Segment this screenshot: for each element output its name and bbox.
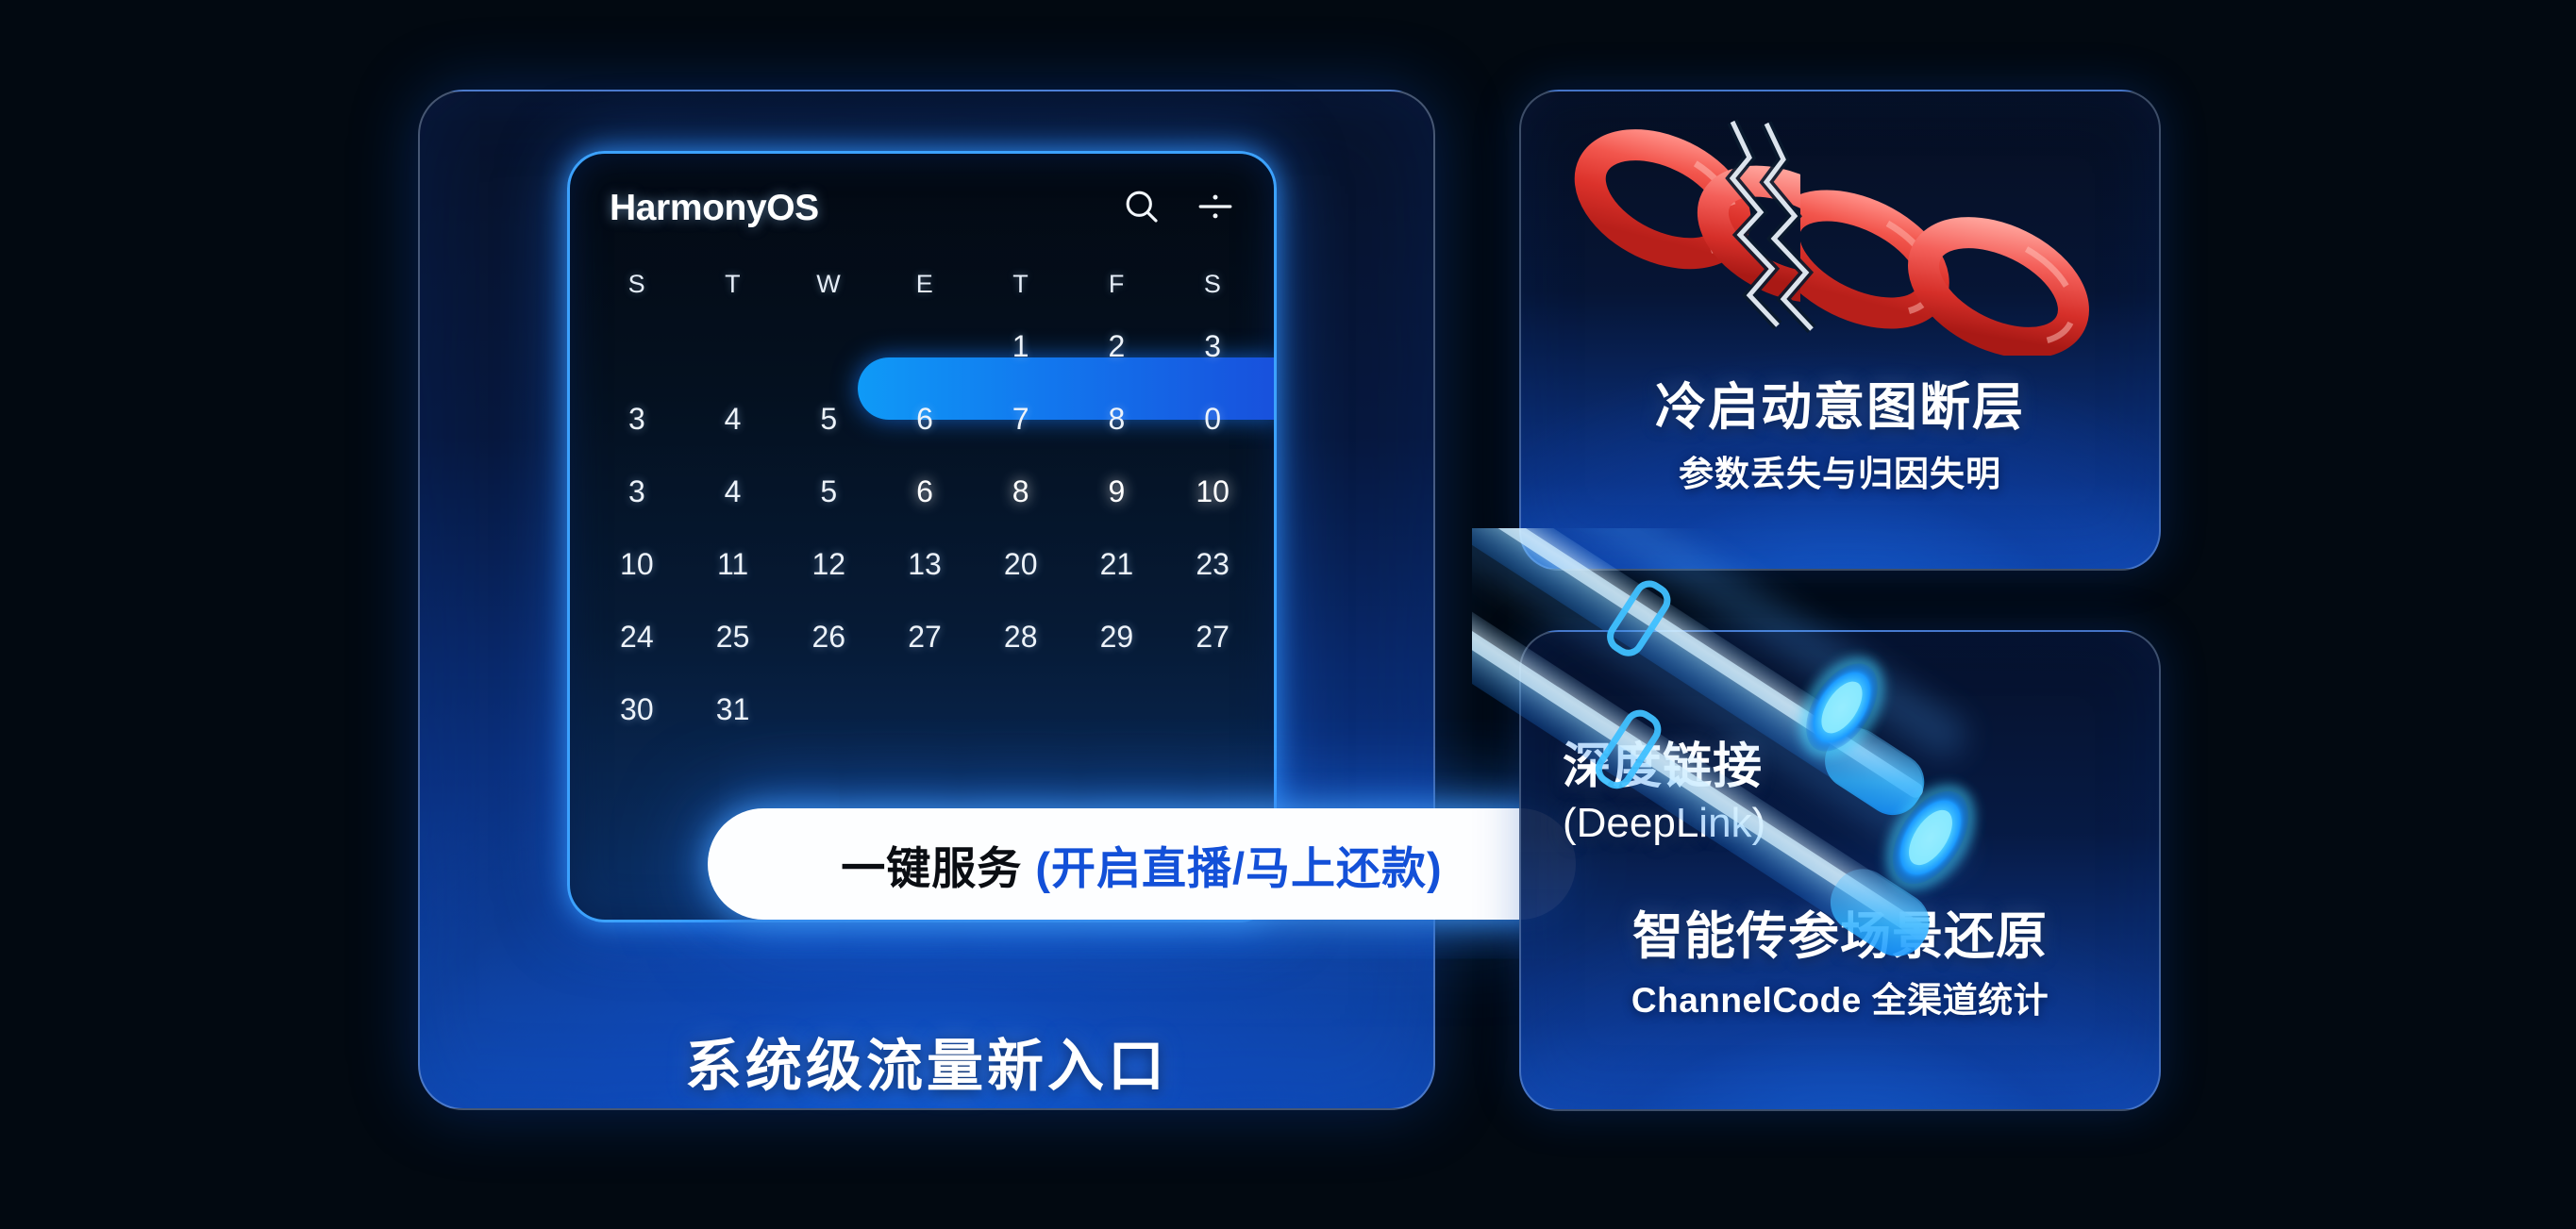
- poster-canvas: HarmonyOS: [0, 0, 2576, 1229]
- deep-link-title-en: (DeepLink): [1563, 800, 1765, 847]
- search-icon[interactable]: [1121, 186, 1163, 232]
- service-label-primary: 一键服务: [841, 843, 1022, 893]
- calendar-day[interactable]: 7: [973, 383, 1069, 456]
- calendar-day[interactable]: 31: [685, 673, 781, 746]
- calendar-day: [1069, 673, 1165, 746]
- calendar-grid: S T W E T F S 1 2 3 3 4 5 6 7: [589, 257, 1261, 746]
- calendar-day[interactable]: 0: [1164, 383, 1261, 456]
- calendar-day-selected[interactable]: 9: [1069, 456, 1165, 528]
- calendar-day[interactable]: 25: [685, 601, 781, 673]
- calendar-day[interactable]: 23: [1164, 528, 1261, 601]
- main-feature-card: HarmonyOS: [418, 90, 1435, 1110]
- calendar-day[interactable]: 27: [1164, 601, 1261, 673]
- deep-link-title: 深度链接: [1563, 726, 1763, 797]
- calendar-day[interactable]: 2: [1069, 310, 1165, 383]
- calendar-day: [589, 310, 685, 383]
- cold-start-card: 冷启动意图断层 参数丢失与归因失明: [1519, 90, 2161, 571]
- calendar-day[interactable]: 12: [780, 528, 877, 601]
- calendar-day[interactable]: 11: [685, 528, 781, 601]
- calendar-header: HarmonyOS: [610, 182, 1236, 235]
- calendar-day[interactable]: 26: [780, 601, 877, 673]
- phone-calendar-panel: HarmonyOS: [567, 151, 1277, 922]
- calendar-day: [685, 310, 781, 383]
- dow-label: E: [877, 257, 973, 310]
- calendar-day: [1164, 673, 1261, 746]
- calendar-day: [877, 310, 973, 383]
- calendar-day[interactable]: 8: [1069, 383, 1165, 456]
- one-key-service-button[interactable]: 一键服务 (开启直播/马上还款): [708, 808, 1576, 920]
- calendar-header-icons: [1121, 186, 1236, 232]
- calendar-day-selected[interactable]: 10: [1164, 456, 1261, 528]
- calendar-day-selected[interactable]: 8: [973, 456, 1069, 528]
- os-name-label: HarmonyOS: [610, 188, 819, 229]
- dow-label: S: [589, 257, 685, 310]
- calendar-day[interactable]: 3: [589, 456, 685, 528]
- calendar-day[interactable]: 6: [877, 383, 973, 456]
- calendar-day[interactable]: 20: [973, 528, 1069, 601]
- calendar-day-selected[interactable]: 6: [877, 456, 973, 528]
- service-label-secondary: (开启直播/马上还款): [1035, 843, 1442, 893]
- cold-start-subtitle: 参数丢失与归因失明: [1521, 445, 2159, 496]
- deep-link-subtitle: ChannelCode 全渠道统计: [1521, 972, 2159, 1022]
- calendar-day[interactable]: 3: [589, 383, 685, 456]
- dow-label: W: [780, 257, 877, 310]
- calendar-day[interactable]: 4: [685, 456, 781, 528]
- calendar-day[interactable]: 29: [1069, 601, 1165, 673]
- calendar-day: [780, 673, 877, 746]
- calendar-day[interactable]: 21: [1069, 528, 1165, 601]
- calendar-day[interactable]: 24: [589, 601, 685, 673]
- dow-label: T: [685, 257, 781, 310]
- main-card-caption: 系统级流量新入口: [420, 1021, 1433, 1103]
- calendar-day[interactable]: 5: [780, 383, 877, 456]
- calendar-day[interactable]: 1: [973, 310, 1069, 383]
- cold-start-title: 冷启动意图断层: [1521, 365, 2159, 440]
- divide-icon[interactable]: [1195, 186, 1236, 232]
- dow-label: S: [1164, 257, 1261, 310]
- calendar-day[interactable]: 5: [780, 456, 877, 528]
- calendar-day[interactable]: 28: [973, 601, 1069, 673]
- calendar-day[interactable]: 13: [877, 528, 973, 601]
- calendar-day[interactable]: 3: [1164, 310, 1261, 383]
- calendar-day[interactable]: 30: [589, 673, 685, 746]
- dow-label: F: [1069, 257, 1165, 310]
- deep-link-card: 深度链接 (DeepLink) 智能传参场景还原 ChannelCode 全渠道…: [1519, 630, 2161, 1111]
- calendar-day[interactable]: 27: [877, 601, 973, 673]
- deep-link-heading2: 智能传参场景还原: [1521, 894, 2159, 969]
- dow-label: T: [973, 257, 1069, 310]
- broken-chain-icon: [1547, 101, 2142, 356]
- calendar-day: [877, 673, 973, 746]
- one-key-service-label: 一键服务 (开启直播/马上还款): [841, 832, 1442, 897]
- calendar-day[interactable]: 10: [589, 528, 685, 601]
- calendar-day: [780, 310, 877, 383]
- calendar-day[interactable]: 4: [685, 383, 781, 456]
- calendar-day: [973, 673, 1069, 746]
